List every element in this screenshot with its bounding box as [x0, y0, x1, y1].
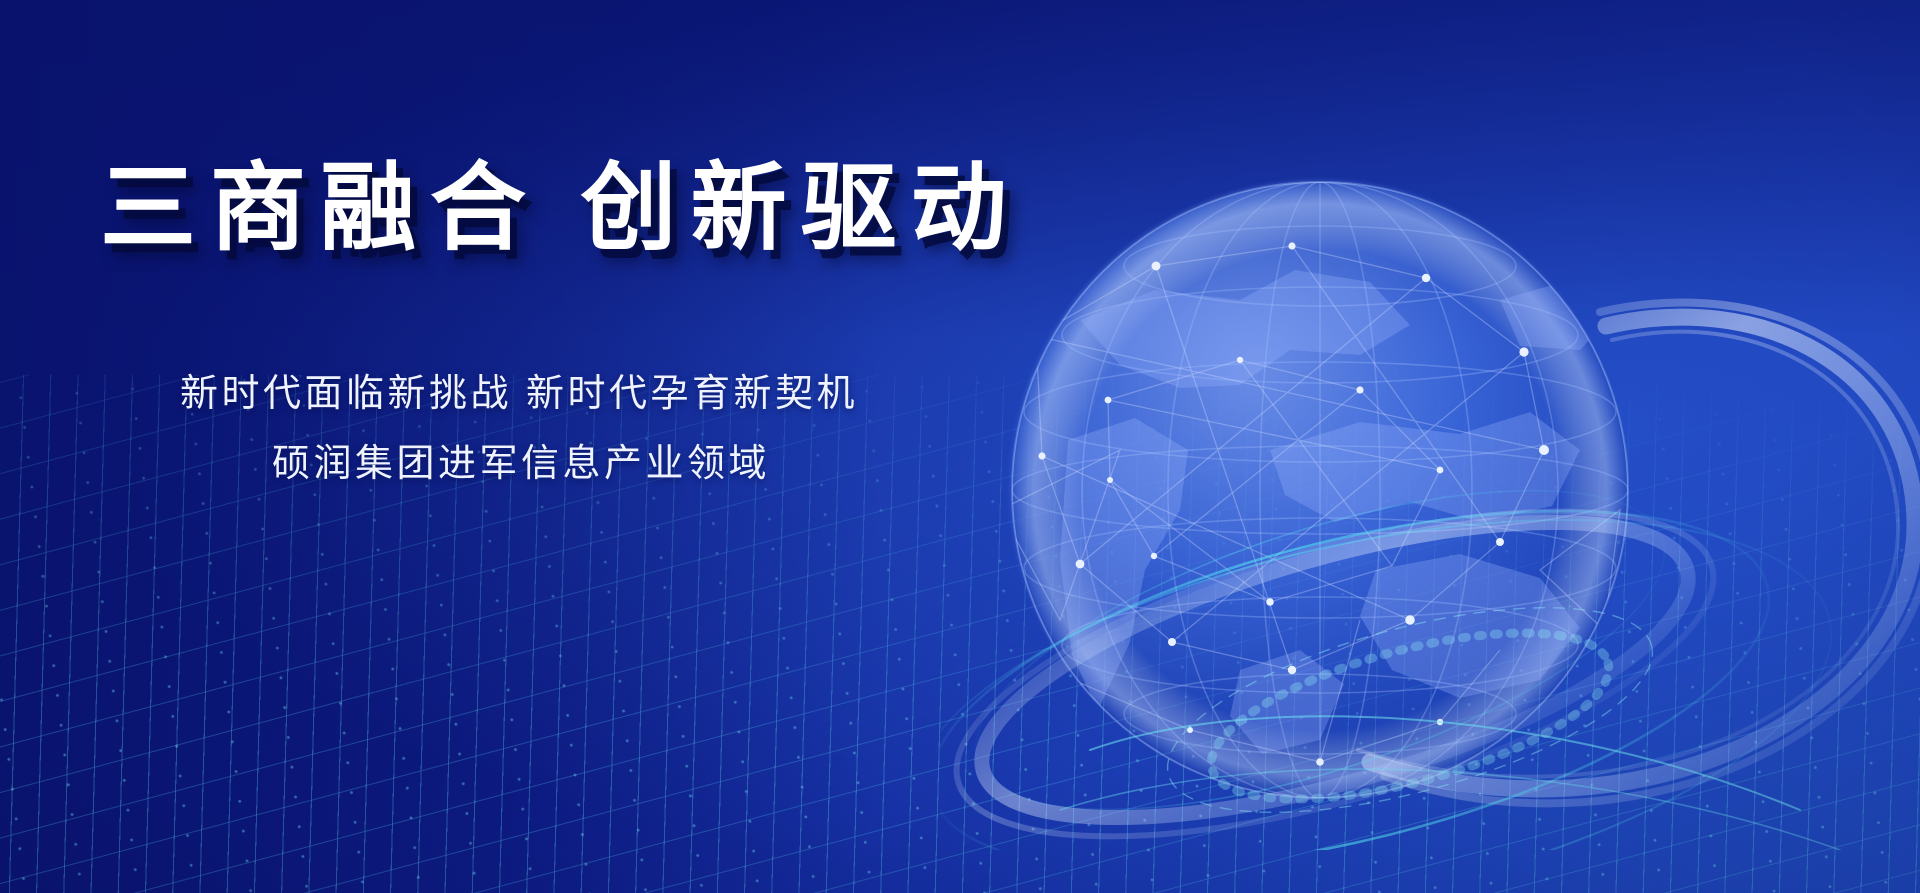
page-title: 三商融合 创新驱动: [100, 158, 1021, 260]
banner-hero: 三商融合 创新驱动 新时代面临新挑战 新时代孕育新契机 硕润集团进军信息产业领域: [0, 0, 1920, 893]
globe-graphic: [940, 150, 1920, 850]
subtitle-line-2: 硕润集团进军信息产业领域: [272, 432, 770, 487]
subtitle-line-1: 新时代面临新挑战 新时代孕育新契机: [180, 362, 858, 417]
wireframe-globe-icon: [940, 150, 1920, 850]
